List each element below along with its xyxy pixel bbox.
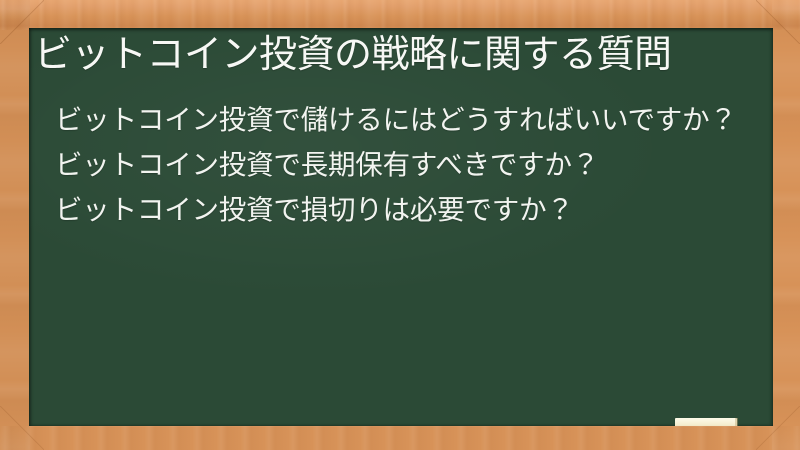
frame-right-grain: [772, 0, 800, 450]
chalk-stick: [675, 418, 737, 426]
blackboard-slide: ビットコイン投資の戦略に関する質問 ビットコイン投資で儲けるにはどうすればいいで…: [0, 0, 800, 450]
page-title: ビットコイン投資の戦略に関する質問: [34, 30, 672, 78]
frame-left-grain: [0, 0, 30, 450]
frame-top-grain: [0, 0, 800, 30]
list-item: ビットコイン投資で儲けるにはどうすればいいですか？: [55, 102, 757, 139]
question-list: ビットコイン投資で儲けるにはどうすればいいですか？ ビットコイン投資で長期保有す…: [55, 102, 757, 229]
chalkboard-surface: ビットコイン投資の戦略に関する質問 ビットコイン投資で儲けるにはどうすればいいで…: [29, 28, 773, 426]
list-item: ビットコイン投資で損切りは必要ですか？: [55, 192, 757, 229]
frame-bottom-grain: [0, 426, 800, 450]
list-item: ビットコイン投資で長期保有すべきですか？: [55, 147, 757, 184]
